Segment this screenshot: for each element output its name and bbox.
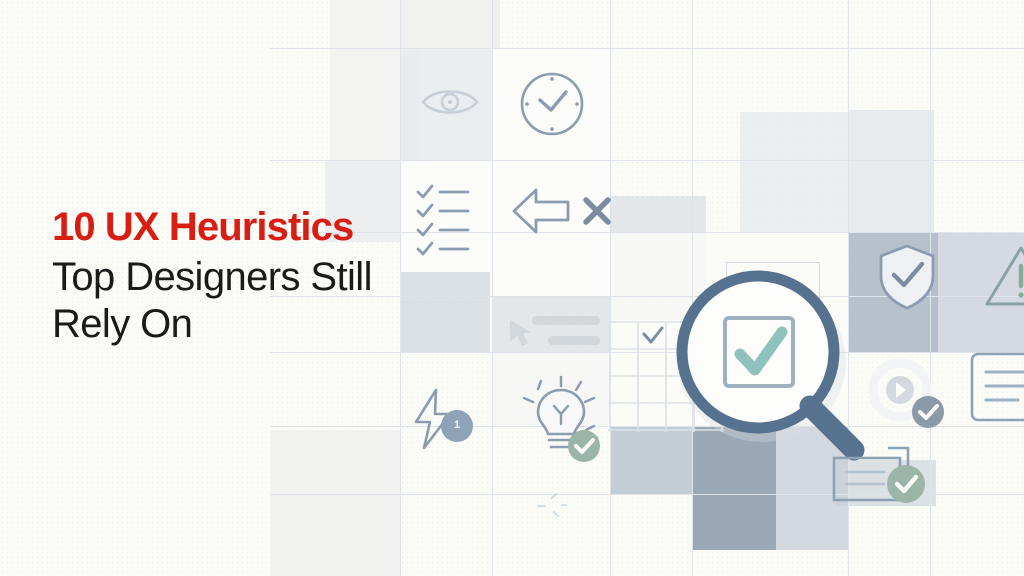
eye-icon [420, 82, 480, 122]
lightning-badge-count: 1 [454, 419, 460, 431]
close-x-icon [582, 196, 612, 226]
document-lines-icon [970, 350, 1024, 426]
lightbulb-check-icon [514, 376, 604, 462]
grid-line-h [270, 48, 1024, 49]
page-title: 10 UX Heuristics Top Designers Still Rel… [52, 204, 472, 347]
sparkle-icon [532, 490, 568, 520]
lightning-badge-icon: 1 [410, 388, 480, 450]
cursor-text-lines-icon [508, 312, 602, 354]
clock-icon [518, 70, 586, 138]
magnifier-checkbox-icon [662, 262, 872, 462]
grid-line-h [270, 160, 1024, 161]
form-card-check-icon [830, 440, 938, 512]
tile-light-4 [270, 430, 400, 576]
shield-check-icon [878, 244, 936, 310]
grid-line-v [492, 0, 493, 576]
tile-light-6 [400, 0, 500, 50]
back-arrow-icon [510, 186, 572, 236]
poster-canvas: 1 [0, 0, 1024, 576]
warning-triangle-icon [984, 244, 1024, 310]
headline-line-3: Rely On [52, 301, 472, 347]
tile-dark-3 [848, 110, 934, 232]
headline-accent-line: 10 UX Heuristics [52, 204, 472, 250]
headline-line-2: Top Designers Still [52, 254, 472, 300]
target-ring-check-icon [868, 358, 946, 430]
tile-dark-4 [740, 112, 848, 232]
grid-line-v [610, 0, 611, 576]
